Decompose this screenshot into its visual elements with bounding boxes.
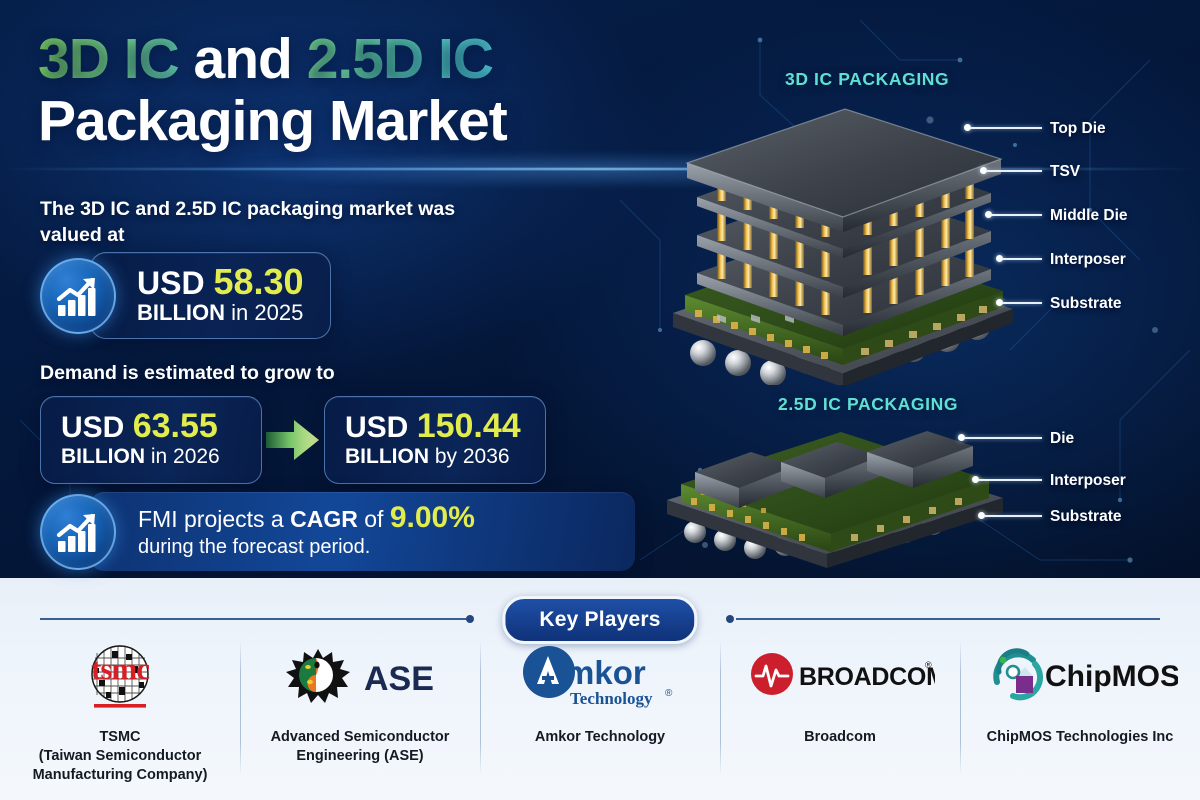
key-players-rule-left (40, 618, 470, 620)
player-name: ChipMOS Technologies Inc (987, 728, 1174, 747)
label-substrate: Substrate (1050, 295, 1122, 313)
svg-text:ASE: ASE (364, 660, 434, 698)
svg-text:®: ® (925, 660, 932, 670)
player-name: Advanced Semiconductor Engineering (ASE) (246, 728, 474, 766)
cagr-stat: FMI projects a CAGR of 9.00% during the … (40, 492, 635, 571)
ase-sun-logo: ASE (280, 642, 440, 716)
leader-line-middle-die (991, 214, 1042, 216)
3d-ic-package-illustration (655, 95, 1030, 385)
valuation-unit-line: BILLION in 2025 (137, 300, 304, 326)
label-die-25d: Die (1050, 430, 1074, 448)
valuation-period: in 2025 (231, 300, 303, 325)
forecast-amount-line: USD 63.55 (61, 410, 241, 444)
demand-paragraph: Demand is estimated to grow to (40, 362, 335, 385)
key-players-dot-right (726, 615, 734, 623)
valuation-panel: USD 58.30 BILLION in 2025 (90, 252, 331, 339)
forecast-period: in 2026 (151, 445, 220, 468)
valuation-amount: 58.30 (213, 261, 303, 302)
page-title: 3D IC and 2.5D IC Packaging Market (38, 28, 678, 152)
broadcom-pulse-logo: BROADCOM ® (745, 642, 935, 716)
valuation-currency: USD (137, 265, 205, 301)
leader-line-die-25d (964, 437, 1042, 439)
growth-chart-icon (40, 258, 116, 334)
svg-text:Technology: Technology (570, 689, 653, 708)
lead-paragraph: The 3D IC and 2.5D IC packaging market w… (40, 196, 510, 248)
leader-line-substrate (1002, 302, 1042, 304)
leader-line-substrate-25d (984, 515, 1042, 517)
forecast-cards: USD 63.55 BILLION in 2026 USD 150.44 B (40, 396, 546, 484)
forecast-unit-line: BILLION by 2036 (345, 444, 525, 470)
cagr-value: 9.00% (390, 501, 475, 534)
player-broadcom[interactable]: BROADCOM ® Broadcom (720, 634, 960, 785)
hero-title-block: 3D IC and 2.5D IC Packaging Market (38, 28, 678, 152)
valuation-unit: BILLION (137, 300, 225, 325)
cagr-prefix: FMI projects a (138, 506, 290, 532)
forecast-currency: USD (345, 411, 408, 444)
cagr-mid: of (358, 506, 390, 532)
label-substrate-25d: Substrate (1050, 508, 1122, 526)
chipmos-swirl-logo: ChipMOS (983, 642, 1178, 716)
title-line2: Packaging Market (38, 89, 507, 153)
label-interposer: Interposer (1050, 251, 1126, 269)
forecast-amount: 150.44 (417, 407, 521, 445)
valuation-amount-line: USD 58.30 (137, 265, 304, 300)
forecast-amount-line: USD 150.44 (345, 410, 525, 444)
label-middle-die: Middle Die (1050, 207, 1128, 225)
leader-line-top-die (970, 127, 1042, 129)
player-tsmc[interactable]: tsmc TSMC (Taiwan Semiconductor Manufact… (0, 634, 240, 785)
svg-text:BROADCOM: BROADCOM (799, 663, 935, 691)
leader-line-interposer-25d (978, 479, 1042, 481)
leader-line-interposer (1002, 258, 1042, 260)
forecast-period: by 2036 (435, 445, 510, 468)
svg-text:tsmc: tsmc (91, 651, 149, 686)
player-name: Broadcom (804, 728, 876, 747)
cagr-line-2: during the forecast period. (138, 534, 605, 560)
cagr-panel: FMI projects a CAGR of 9.00% during the … (90, 492, 635, 571)
key-players-section: Key Players (0, 578, 1200, 800)
player-name-main: TSMC (99, 729, 140, 745)
tsmc-wafer-logo: tsmc (61, 642, 179, 716)
forecast-unit-line: BILLION in 2026 (61, 444, 241, 470)
diagram-title-3dic: 3D IC PACKAGING (785, 69, 949, 90)
cagr-line-1: FMI projects a CAGR of 9.00% (138, 503, 605, 534)
valuation-stat: USD 58.30 BILLION in 2025 (40, 252, 331, 339)
infographic-canvas: 3D IC and 2.5D IC Packaging Market The 3… (0, 0, 1200, 800)
cagr-bold-word: CAGR (290, 506, 358, 532)
label-top-die: Top Die (1050, 120, 1106, 138)
svg-text:®: ® (665, 688, 673, 699)
player-ase[interactable]: ASE Advanced Semiconductor Engineering (… (240, 634, 480, 785)
forecast-card-2036: USD 150.44 BILLION by 2036 (324, 396, 546, 484)
25d-ic-package-illustration (655, 412, 1025, 572)
svg-text:mkor: mkor (565, 654, 646, 691)
player-amkor[interactable]: mkor Technology ® Amkor Technology (480, 634, 720, 785)
forecast-card-2026: USD 63.55 BILLION in 2026 (40, 396, 262, 484)
forecast-currency: USD (61, 411, 124, 444)
forecast-unit: BILLION (345, 445, 429, 468)
player-chipmos[interactable]: ChipMOS ChipMOS Technologies Inc (960, 634, 1200, 785)
player-name: Amkor Technology (535, 728, 665, 747)
label-interposer-25d: Interposer (1050, 472, 1126, 490)
title-and: and (179, 27, 307, 91)
key-players-list: tsmc TSMC (Taiwan Semiconductor Manufact… (0, 634, 1200, 785)
forecast-unit: BILLION (61, 445, 145, 468)
key-players-rule-right (736, 618, 1160, 620)
amkor-circle-logo: mkor Technology ® (513, 642, 688, 716)
title-3dic: 3D IC (38, 27, 179, 91)
player-name-sub: (Taiwan Semiconductor Manufacturing Comp… (33, 748, 208, 783)
growth-arrow-icon (262, 417, 324, 463)
growth-chart-icon (40, 494, 116, 570)
key-players-dot-left (466, 615, 474, 623)
leader-line-tsv (986, 170, 1042, 172)
title-25dic: 2.5D IC (307, 27, 493, 91)
svg-text:ChipMOS: ChipMOS (1045, 660, 1178, 693)
label-tsv: TSV (1050, 163, 1080, 181)
player-name: TSMC (Taiwan Semiconductor Manufacturing… (6, 728, 234, 785)
forecast-amount: 63.55 (133, 407, 218, 445)
